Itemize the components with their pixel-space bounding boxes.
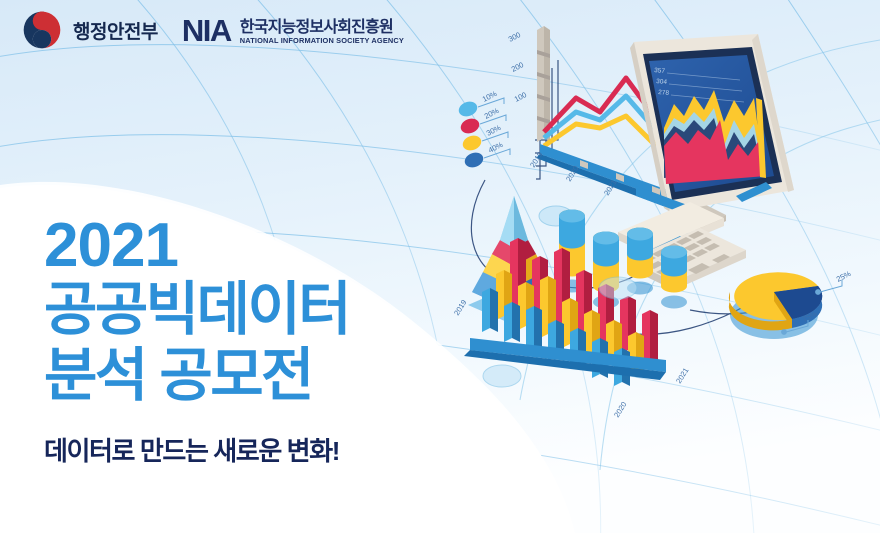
isometric-illustration: 300 200 100 201 — [440, 20, 880, 440]
headline-subtitle: 데이터로 만드는 새로운 변화! — [44, 431, 349, 468]
headline-block: 2021 공공빅데이터 분석 공모전 데이터로 만드는 새로운 변화! — [44, 216, 349, 468]
nia-korean-name: 한국지능정보사회진흥원 — [240, 20, 404, 37]
legend-bubbles: 10% 20% 30% 40% — [457, 89, 510, 170]
pie-label-25: 25% — [835, 269, 853, 284]
gov-logo-label: 행정안전부 — [73, 17, 158, 44]
iso-year-2019: 2019 — [452, 298, 468, 317]
donut-pie-chart — [729, 268, 822, 339]
axis-tick-200: 200 — [510, 60, 525, 74]
illustration-svg: 300 200 100 201 — [440, 20, 880, 440]
axis-tick-300: 300 — [507, 30, 522, 44]
gov-logo: 행정안전부 — [22, 10, 158, 50]
legend-label-10: 10% — [481, 89, 499, 104]
axis-tick-100: 100 — [513, 90, 528, 104]
nia-name-block: 한국지능정보사회진흥원 NATIONAL INFORMATION SOCIETY… — [240, 20, 404, 46]
legend-dot-1 — [457, 99, 480, 119]
monitor-tick-304: 304 — [656, 78, 668, 86]
monitor-tick-357: 357 — [654, 67, 666, 75]
desktop-monitor: 357 304 278 — [630, 34, 794, 233]
line-chart-axis-ticks: 300 200 100 — [507, 30, 528, 104]
nia-wordmark: NIA — [182, 15, 231, 46]
highlight-bubble-4 — [599, 277, 637, 299]
nia-logo: NIA 한국지능정보사회진흥원 NATIONAL INFORMATION SOC… — [182, 15, 404, 46]
highlight-bubble-3 — [483, 365, 521, 387]
legend-dot-3 — [461, 133, 484, 153]
poster-canvas: 행정안전부 NIA 한국지능정보사회진흥원 NATIONAL INFORMATI… — [0, 0, 880, 533]
header-logos: 행정안전부 NIA 한국지능정보사회진흥원 NATIONAL INFORMATI… — [22, 10, 404, 50]
legend-dot-4 — [463, 150, 486, 170]
iso-year-2021: 2021 — [674, 366, 690, 385]
monitor-tick-278: 278 — [658, 89, 670, 97]
taeguk-logo — [22, 10, 62, 50]
legend-label-20: 20% — [483, 106, 501, 121]
headline-line-1: 공공빅데이터 — [44, 277, 349, 343]
legend-dot-2 — [459, 116, 482, 136]
nia-english-name: NATIONAL INFORMATION SOCIETY AGENCY — [240, 37, 404, 45]
headline-line-2: 분석 공모전 — [44, 343, 349, 409]
iso-year-2020: 2020 — [612, 400, 628, 419]
cylinder-4 — [661, 246, 687, 309]
legend-label-30: 30% — [485, 123, 503, 138]
headline-year: 2021 — [44, 216, 349, 277]
legend-label-40: 40% — [487, 140, 505, 155]
